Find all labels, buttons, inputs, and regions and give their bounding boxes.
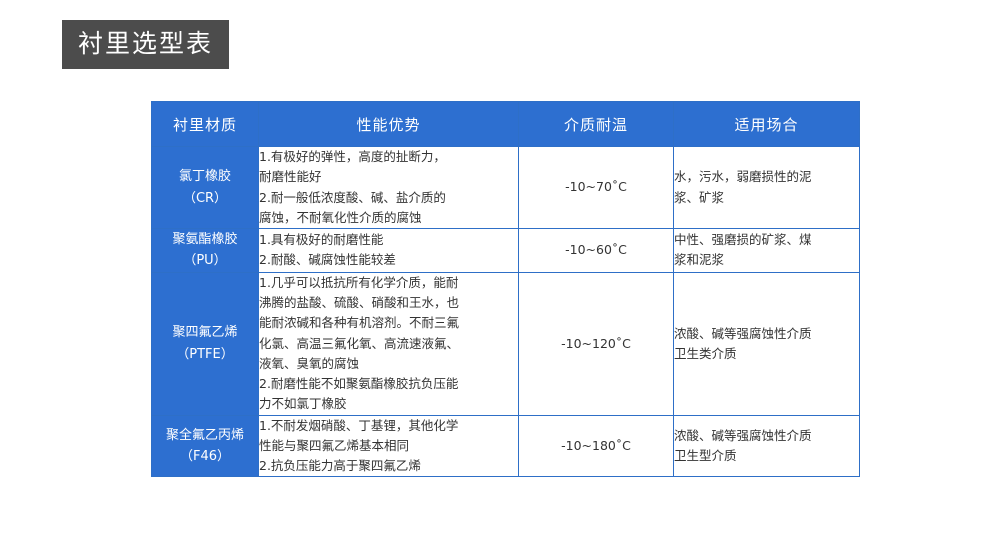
table-row: 氯丁橡胶 （CR） 1.有极好的弹性，高度的扯断力， 耐磨性能好 2.耐一般低浓… — [152, 147, 860, 229]
advantage-line: 腐蚀，不耐氧化性介质的腐蚀 — [259, 208, 518, 228]
cell-advantages: 1.具有极好的耐磨性能 2.耐酸、碱腐蚀性能较差 — [259, 229, 519, 273]
table-row: 聚全氟乙丙烯 （F46） 1.不耐发烟硝酸、丁基锂，其他化学 性能与聚四氟乙烯基… — [152, 415, 860, 477]
cell-advantages: 1.有极好的弹性，高度的扯断力， 耐磨性能好 2.耐一般低浓度酸、碱、盐介质的 … — [259, 147, 519, 229]
table-header: 衬里材质 性能优势 介质耐温 适用场合 — [152, 102, 860, 147]
advantage-line: 能耐浓碱和各种有机溶剂。不耐三氟 — [259, 313, 518, 333]
usage-line: 卫生类介质 — [674, 344, 859, 364]
advantage-line: 2.耐一般低浓度酸、碱、盐介质的 — [259, 188, 518, 208]
cell-advantages: 1.不耐发烟硝酸、丁基锂，其他化学 性能与聚四氟乙烯基本相同 2.抗负压能力高于… — [259, 415, 519, 477]
header-advantages: 性能优势 — [259, 102, 519, 147]
advantage-line: 1.具有极好的耐磨性能 — [259, 230, 518, 250]
page-title: 衬里选型表 — [62, 20, 229, 69]
advantage-line: 2.耐酸、碱腐蚀性能较差 — [259, 250, 518, 270]
advantage-line: 化氯、高温三氟化氧、高流速液氟、 — [259, 334, 518, 354]
material-name: 聚全氟乙丙烯 — [152, 425, 258, 446]
advantage-line: 2.抗负压能力高于聚四氟乙烯 — [259, 456, 518, 476]
spec-table: 衬里材质 性能优势 介质耐温 适用场合 氯丁橡胶 （CR） 1.有极好的弹性，高… — [151, 101, 860, 477]
lining-selection-table: 衬里材质 性能优势 介质耐温 适用场合 氯丁橡胶 （CR） 1.有极好的弹性，高… — [151, 101, 859, 477]
material-name: 聚氨酯橡胶 — [152, 229, 258, 250]
material-code: （PU） — [152, 250, 258, 271]
material-name: 氯丁橡胶 — [152, 166, 258, 187]
material-code: （F46） — [152, 446, 258, 467]
usage-line: 卫生型介质 — [674, 446, 859, 466]
material-name: 聚四氟乙烯 — [152, 322, 258, 343]
usage-line: 浆、矿浆 — [674, 188, 859, 208]
material-code: （PTFE） — [152, 344, 258, 365]
header-temperature: 介质耐温 — [519, 102, 674, 147]
cell-temperature: -10~180˚C — [519, 415, 674, 477]
advantage-line: 液氧、臭氧的腐蚀 — [259, 354, 518, 374]
cell-usage: 浓酸、碱等强腐蚀性介质 卫生型介质 — [674, 415, 860, 477]
cell-usage: 浓酸、碱等强腐蚀性介质 卫生类介质 — [674, 272, 860, 415]
advantage-line: 1.有极好的弹性，高度的扯断力， — [259, 147, 518, 167]
advantage-line: 沸腾的盐酸、硫酸、硝酸和王水，也 — [259, 293, 518, 313]
cell-material: 聚全氟乙丙烯 （F46） — [152, 415, 259, 477]
cell-usage: 中性、强磨损的矿浆、煤 浆和泥浆 — [674, 229, 860, 273]
header-usage: 适用场合 — [674, 102, 860, 147]
cell-temperature: -10~60˚C — [519, 229, 674, 273]
table-row: 聚四氟乙烯 （PTFE） 1.几乎可以抵抗所有化学介质，能耐 沸腾的盐酸、硫酸、… — [152, 272, 860, 415]
advantage-line: 1.几乎可以抵抗所有化学介质，能耐 — [259, 273, 518, 293]
table-header-row: 衬里材质 性能优势 介质耐温 适用场合 — [152, 102, 860, 147]
usage-line: 水，污水，弱磨损性的泥 — [674, 167, 859, 187]
cell-material: 氯丁橡胶 （CR） — [152, 147, 259, 229]
cell-advantages: 1.几乎可以抵抗所有化学介质，能耐 沸腾的盐酸、硫酸、硝酸和王水，也 能耐浓碱和… — [259, 272, 519, 415]
advantage-line: 1.不耐发烟硝酸、丁基锂，其他化学 — [259, 416, 518, 436]
cell-temperature: -10~120˚C — [519, 272, 674, 415]
cell-usage: 水，污水，弱磨损性的泥 浆、矿浆 — [674, 147, 860, 229]
usage-line: 浓酸、碱等强腐蚀性介质 — [674, 426, 859, 446]
cell-material: 聚氨酯橡胶 （PU） — [152, 229, 259, 273]
table-row: 聚氨酯橡胶 （PU） 1.具有极好的耐磨性能 2.耐酸、碱腐蚀性能较差 -10~… — [152, 229, 860, 273]
usage-line: 浆和泥浆 — [674, 250, 859, 270]
cell-material: 聚四氟乙烯 （PTFE） — [152, 272, 259, 415]
advantage-line: 耐磨性能好 — [259, 167, 518, 187]
advantage-line: 2.耐磨性能不如聚氨酯橡胶抗负压能 — [259, 374, 518, 394]
usage-line: 浓酸、碱等强腐蚀性介质 — [674, 324, 859, 344]
table-body: 氯丁橡胶 （CR） 1.有极好的弹性，高度的扯断力， 耐磨性能好 2.耐一般低浓… — [152, 147, 860, 477]
material-code: （CR） — [152, 188, 258, 209]
page-root: 衬里选型表 衬里材质 性能优势 介质耐温 适用场合 氯丁橡 — [0, 0, 1000, 536]
usage-line: 中性、强磨损的矿浆、煤 — [674, 230, 859, 250]
advantage-line: 性能与聚四氟乙烯基本相同 — [259, 436, 518, 456]
advantage-line: 力不如氯丁橡胶 — [259, 394, 518, 414]
header-material: 衬里材质 — [152, 102, 259, 147]
cell-temperature: -10~70˚C — [519, 147, 674, 229]
